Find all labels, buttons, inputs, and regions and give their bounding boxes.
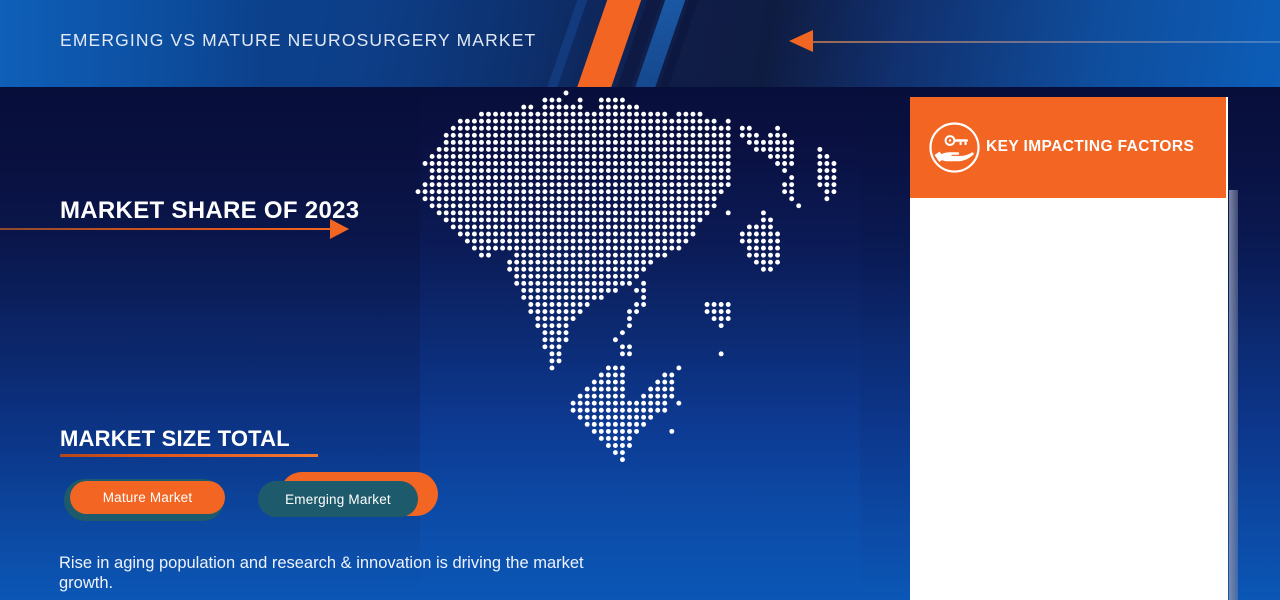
market-share-title: MARKET SHARE OF 2023 [60,197,359,225]
market-size-underline [60,454,318,457]
key-factors-heading: KEY IMPACTING FACTORS [986,138,1194,156]
hand-holding-key-icon [928,121,981,174]
market-size-description: Rise in aging population and research & … [59,553,599,593]
infographic-canvas: EMERGING VS MATURE NEUROSURGERY MARKET M… [0,0,1280,600]
key-factors-header: KEY IMPACTING FACTORS [910,97,1226,198]
market-share-arrow-line [0,228,334,230]
page-title: EMERGING VS MATURE NEUROSURGERY MARKET [60,30,536,51]
segment-pill-mature-market[interactable]: Mature Market [64,479,244,521]
market-size-title: MARKET SIZE TOTAL [60,426,290,452]
arrow-right-icon [330,219,349,239]
arrow-left-icon [789,30,813,52]
pill-label-emerging-market: Emerging Market [258,481,418,517]
header-bar: EMERGING VS MATURE NEUROSURGERY MARKET [0,0,1280,87]
key-factors-panel-shadow [1229,190,1238,600]
segment-pill-emerging-market[interactable]: Emerging Market [258,472,438,524]
pill-label-mature-market: Mature Market [70,481,225,514]
header-arrow-line [812,41,1280,43]
